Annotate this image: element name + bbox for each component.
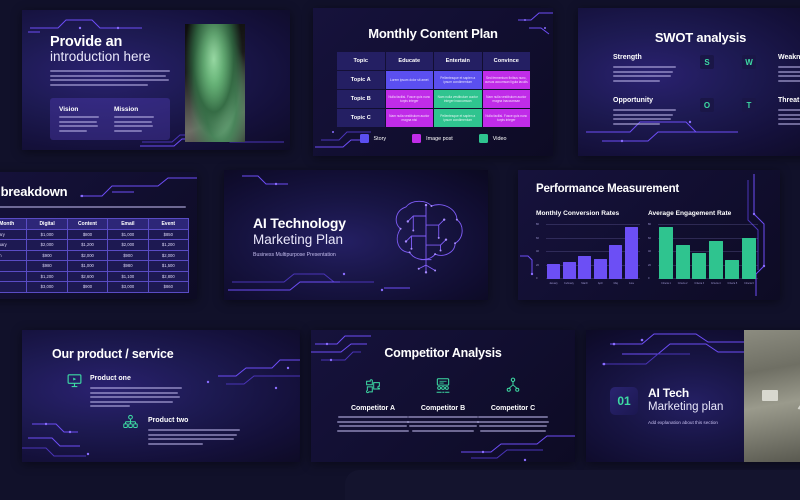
content-plan-row: Topic BNulla facilisi. Fusce quis nunc t… (337, 90, 530, 108)
competitor-card-c: Competitor C (475, 377, 551, 432)
budget-cell: $3,000 (108, 282, 148, 293)
slide9-line2: Marketing plan (648, 401, 723, 413)
slide8-title: Competitor Analysis (311, 346, 575, 360)
budget-cell: $1,200 (27, 271, 67, 282)
person-nodes-icon (504, 377, 522, 394)
swot-body-opportunity (613, 109, 676, 127)
content-plan-header-0: Topic (337, 52, 385, 70)
y-tick-label: 40 (536, 250, 539, 253)
budget-header-1: Digital (27, 219, 67, 230)
slide-section-ai-tech[interactable]: 01 AI Tech Marketing plan Add explanatio… (586, 330, 800, 462)
y-tick-label: 20 (648, 264, 651, 267)
content-plan-row: Topic ALorem ipsum dolor sit ametPellent… (337, 71, 530, 89)
group-board-icon (434, 377, 452, 394)
bar-group (547, 225, 638, 279)
budget-cell: January (0, 229, 27, 240)
budget-cell: $900 (27, 250, 67, 261)
legend-swatch-0 (360, 134, 369, 143)
y-tick-label: 80 (536, 223, 539, 226)
budget-cell: $800 (67, 229, 107, 240)
slide2-title: Monthly Content Plan (313, 26, 553, 41)
competitor-card-a: Competitor A (335, 377, 411, 432)
slide-competitor-analysis[interactable]: Competitor Analysis Competitor A (311, 330, 575, 462)
x-axis-labels: JanuaryFebruaryMarchAprilMayJune (547, 282, 638, 285)
slide1-body-text (50, 70, 170, 88)
budget-row: January$1,000$800$1,000$850 (0, 229, 189, 240)
slide-provide-an-introduction[interactable]: Provide an introduction here Vision Miss… (22, 10, 290, 150)
x-tick-label: Criteria 4 (709, 282, 723, 285)
content-plan-cell-0-0: Lorem ipsum dolor sit amet (386, 71, 434, 89)
budget-cell: $900 (108, 250, 148, 261)
x-tick-label: Criteria 1 (659, 282, 673, 285)
circuit-brain-icon (380, 196, 472, 276)
budget-header-3: Email (108, 219, 148, 230)
slide-budget-breakdown[interactable]: et breakdown MonthDigitalContentEmailEve… (0, 172, 197, 299)
content-plan-legend: StoryImage postVideo (313, 134, 553, 143)
budget-row: February$2,000$1,200$2,000$1,200 (0, 240, 189, 251)
budget-cell: $1,000 (108, 229, 148, 240)
content-plan-cell-1-0: Nulla facilisi. Fusce quis nunc turpis i… (386, 90, 434, 108)
budget-header-2: Content (67, 219, 107, 230)
bar (547, 264, 560, 279)
product-two-body (148, 429, 240, 447)
budget-row: April$980$1,000$980$1,500 (0, 261, 189, 272)
competitor-c-body (475, 416, 551, 432)
x-tick-label: April (594, 282, 607, 285)
budget-cell: March (0, 250, 27, 261)
bar-group (659, 225, 756, 279)
slide-our-product-service[interactable]: Our product / service Product one Produc… (22, 330, 300, 462)
budget-cell: $980 (27, 261, 67, 272)
content-plan-row-label-0: Topic A (337, 71, 385, 89)
content-plan-header-row: TopicEducateEntertainConvince (337, 52, 530, 70)
bar-chart-conversion: 020406080JanuaryFebruaryMarchAprilMayJun… (536, 224, 640, 286)
content-plan-row: Topic CNam nulla vestibulum auctor magna… (337, 109, 530, 127)
budget-cell: $2,000 (108, 240, 148, 251)
budget-row: June$3,000$900$3,000$860 (0, 282, 189, 293)
legend-item-1: Image post (412, 134, 453, 143)
slide5-line3: Business Multipurpose Presentation (253, 252, 336, 258)
bar-chart-engagement: 020406080Criteria 1Criteria 2Criteria 3C… (648, 224, 758, 286)
mission-heading: Mission (114, 106, 138, 113)
vision-heading: Vision (59, 106, 78, 113)
budget-cell: $1,000 (67, 261, 107, 272)
budget-cell: $1,000 (27, 229, 67, 240)
content-plan-cell-1-1: Nam nulla vestibulum auctor integer inac… (434, 90, 482, 108)
x-tick-label: Criteria 5 (725, 282, 739, 285)
competitor-card-b: Competitor B (405, 377, 481, 432)
content-plan-table: TopicEducateEntertainConvinceTopic ALore… (336, 51, 531, 128)
budget-cell: $1,500 (148, 261, 188, 272)
legend-label-0: Story (374, 136, 387, 142)
content-plan-cell-1-2: Nam nulla vestibulum auctor magna inaccu… (483, 90, 531, 108)
x-tick-label: January (547, 282, 560, 285)
competitor-a-heading: Competitor A (335, 405, 411, 412)
y-tick-label: 60 (648, 237, 651, 240)
bottom-bar (345, 470, 800, 500)
bar (742, 238, 756, 279)
swot-body-strength (613, 66, 676, 84)
x-tick-label: June (625, 282, 638, 285)
content-plan-cell-0-2: Sed fermentum finibus nunc, cursus accum… (483, 71, 531, 89)
budget-cell: April (0, 261, 27, 272)
competitor-a-body (335, 416, 411, 432)
y-tick-label: 80 (648, 223, 651, 226)
legend-swatch-2 (479, 134, 488, 143)
y-tick-label: 20 (536, 264, 539, 267)
puzzle-pieces-icon (364, 377, 382, 394)
bar (578, 256, 591, 279)
content-plan-header-1: Educate (386, 52, 434, 70)
slide4-subtitle (0, 206, 186, 211)
content-plan-header-3: Convince (483, 52, 531, 70)
bar (725, 260, 739, 279)
budget-cell: $2,000 (148, 250, 188, 261)
slide9-line3: Add explanation about this section (648, 420, 718, 425)
product-two-heading: Product two (148, 417, 188, 424)
slide4-title: et breakdown (0, 184, 67, 199)
budget-row: May$1,200$2,600$1,100$2,800 (0, 271, 189, 282)
x-tick-label: Criteria 6 (742, 282, 756, 285)
chart-left-title: Monthly Conversion Rates (536, 210, 619, 217)
swot-heading-weakness: Weakness (778, 54, 800, 61)
swot-body-threat (778, 109, 800, 127)
swot-heading-threat: Threat (778, 97, 799, 104)
budget-table: MonthDigitalContentEmailEvent January$1,… (0, 218, 189, 293)
budget-cell: May (0, 271, 27, 282)
bar (625, 227, 638, 279)
bar (692, 253, 706, 280)
mission-body (114, 116, 154, 134)
swot-letter-t: T (742, 98, 756, 112)
content-plan-cell-0-1: Pellentesque et sapien a ipsum condiment… (434, 71, 482, 89)
legend-label-1: Image post (426, 136, 453, 142)
competitor-b-body (405, 416, 481, 432)
budget-header-0: Month (0, 219, 27, 230)
x-tick-label: May (609, 282, 622, 285)
swot-letter-s: S (700, 55, 714, 69)
budget-cell: June (0, 282, 27, 293)
budget-cell: $2,000 (27, 240, 67, 251)
team-network-icon (122, 414, 139, 431)
section-number: 01 (610, 387, 638, 415)
budget-cell: $900 (67, 282, 107, 293)
x-tick-label: March (578, 282, 591, 285)
slide-performance-measurement[interactable]: Performance Measurement Monthly Conversi… (518, 170, 780, 300)
bar (676, 245, 690, 279)
bar (659, 227, 673, 279)
swot-letter-o: O (700, 98, 714, 112)
budget-cell: $1,200 (67, 240, 107, 251)
swot-heading-strength: Strength (613, 54, 642, 61)
swot-letter-w: W (742, 55, 756, 69)
section-photo (744, 330, 800, 462)
swot-body-weakness (778, 66, 800, 84)
y-tick-label: 0 (648, 277, 649, 280)
chart-right-title: Average Engagement Rate (648, 210, 731, 217)
budget-cell: February (0, 240, 27, 251)
budget-cell: $860 (148, 282, 188, 293)
content-plan-header-2: Entertain (434, 52, 482, 70)
vision-body (59, 116, 99, 134)
content-plan-cell-2-2: Nulla facilisi. Fusce quis nunc turpis i… (483, 109, 531, 127)
budget-cell: $1,100 (108, 271, 148, 282)
budget-header-4: Event (148, 219, 188, 230)
slide5-line1: AI Technology (253, 215, 346, 231)
legend-swatch-1 (412, 134, 421, 143)
legend-label-2: Video (493, 136, 507, 142)
bar (609, 245, 622, 279)
budget-row: March$900$2,000$900$2,000 (0, 250, 189, 261)
content-plan-row-label-2: Topic C (337, 109, 385, 127)
slide1-title-bold: Provide an (50, 34, 122, 50)
slide5-line2: Marketing Plan (253, 232, 343, 247)
slide1-title-thin: introduction here (50, 49, 151, 64)
slide6-title: Performance Measurement (536, 183, 679, 195)
bar (594, 259, 607, 279)
slide3-title: SWOT analysis (578, 30, 800, 45)
budget-cell: $2,000 (67, 250, 107, 261)
bar (563, 262, 576, 279)
legend-item-2: Video (479, 134, 507, 143)
x-tick-label: Criteria 3 (692, 282, 706, 285)
x-tick-label: February (563, 282, 576, 285)
budget-cell: $2,600 (67, 271, 107, 282)
competitor-c-heading: Competitor C (475, 405, 551, 412)
y-tick-label: 0 (536, 277, 537, 280)
budget-cell: $850 (148, 229, 188, 240)
x-axis-labels: Criteria 1Criteria 2Criteria 3Criteria 4… (659, 282, 756, 285)
budget-cell: $2,800 (148, 271, 188, 282)
y-tick-label: 40 (648, 250, 651, 253)
legend-item-0: Story (360, 134, 387, 143)
content-plan-cell-2-1: Pellentesque et sapien a ipsum condiment… (434, 109, 482, 127)
slide9-line1: AI Tech (648, 386, 689, 400)
photo-knob (762, 390, 778, 401)
product-one-heading: Product one (90, 375, 131, 382)
bar (709, 241, 723, 279)
intro-photo (185, 24, 245, 142)
slide-ai-technology-title[interactable]: AI Technology Marketing Plan Business Mu… (224, 170, 488, 300)
presentation-play-icon (66, 372, 83, 389)
swot-heading-opportunity: Opportunity (613, 97, 653, 104)
budget-cell: $1,200 (148, 240, 188, 251)
competitor-b-heading: Competitor B (405, 405, 481, 412)
presentation-template-showcase: Provide an introduction here Vision Miss… (0, 0, 800, 500)
slide-swot-analysis[interactable]: SWOT analysis Strength S W Weakness Oppo… (578, 8, 800, 156)
budget-cell: $980 (108, 261, 148, 272)
content-plan-row-label-1: Topic B (337, 90, 385, 108)
budget-cell: $3,000 (27, 282, 67, 293)
content-plan-cell-2-0: Nam nulla vestibulum auctor magna nisi (386, 109, 434, 127)
slide7-title: Our product / service (52, 347, 174, 361)
y-tick-label: 60 (536, 237, 539, 240)
slide-monthly-content-plan[interactable]: Monthly Content Plan TopicEducateEnterta… (313, 8, 553, 156)
x-tick-label: Criteria 2 (676, 282, 690, 285)
product-one-body (90, 387, 182, 410)
